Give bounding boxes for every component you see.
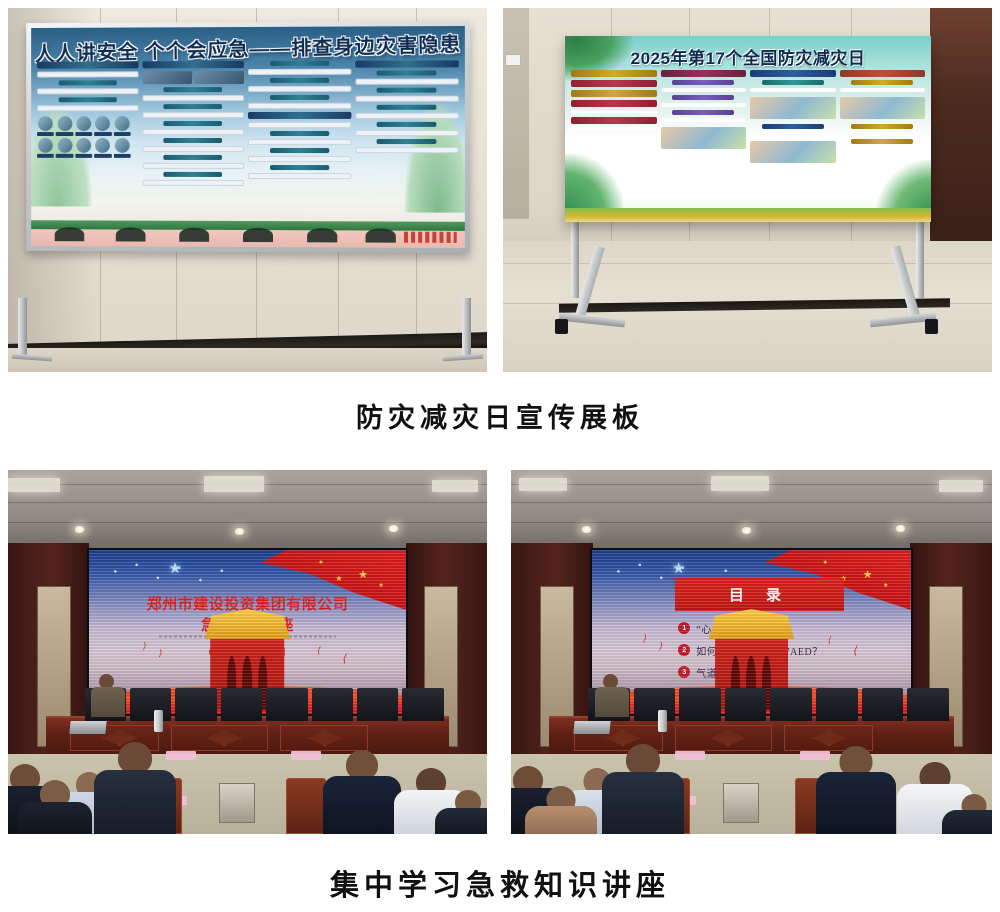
figure-photo-wall-mounted-display-board: 人人讲安全 个个会应急——排查身边灾害隐患 — [8, 8, 487, 372]
poster-section-header-bar — [750, 70, 836, 77]
poster-disaster-icon — [37, 138, 54, 158]
poster-body-text — [840, 132, 926, 136]
poster-section-header-bar — [377, 70, 437, 75]
poster-body-text — [248, 122, 351, 128]
poster-body-text — [571, 110, 657, 114]
figure-photo-free-standing-display-board: 2025年第17个全国防灾减灾日 — [503, 8, 992, 372]
poster-section-header-bar — [163, 104, 222, 109]
display-board-frame: 人人讲安全 个个会应急——排查身边灾害隐患 — [26, 21, 470, 253]
poster-illustration — [661, 127, 747, 149]
poster-column-3 — [750, 70, 836, 204]
poster-body-text — [355, 78, 459, 84]
poster-disaster-icon — [114, 116, 131, 136]
slide-toc-item-number: 2 — [678, 644, 690, 656]
board-stand-right — [462, 298, 471, 358]
ceiling — [8, 470, 487, 554]
poster-disaster-icon — [94, 116, 111, 136]
poster-body-text — [142, 180, 244, 186]
figure-caption-row-2: 集中学习急救知识讲座 — [0, 862, 1000, 904]
poster-section-header-bar — [270, 165, 330, 170]
audience-member — [525, 786, 597, 834]
poster-subsection-header-bar — [851, 80, 913, 85]
poster-disaster-icon — [75, 138, 92, 158]
poster-section-header-bar — [355, 60, 459, 67]
ceiling — [511, 470, 992, 554]
lecture-hall: ★ ★ ★ ★ ★ ⟩ ⟩ ⟨ ⟨ 目 录 1 “心肺复 — [511, 470, 992, 834]
poster-theme-subslogan — [571, 90, 657, 97]
poster-section-header-bar — [377, 105, 437, 110]
poster-body-text — [37, 105, 138, 111]
poster-subsection-header-bar — [762, 124, 824, 129]
poster-subsection-header-bar — [851, 139, 913, 144]
poster-section-header-bar — [163, 172, 222, 177]
poster-section-header-bar — [58, 80, 117, 85]
poster-body-text — [142, 129, 244, 135]
poster-illustration — [750, 141, 836, 163]
poster-body-text — [248, 139, 351, 145]
poster-illustration — [840, 97, 926, 119]
poster-body-text — [142, 163, 244, 169]
poster-disaster-icon — [94, 138, 111, 158]
poster-body-text — [355, 113, 459, 119]
audience — [8, 674, 487, 834]
poster-disaster-icon-grid — [37, 116, 138, 158]
audience-member — [602, 744, 684, 834]
poster-body-text — [750, 88, 836, 92]
poster-body-text — [248, 69, 351, 75]
poster-body-text — [661, 103, 747, 107]
audience — [511, 674, 992, 834]
poster-body-text — [248, 156, 351, 162]
poster-columns — [37, 60, 459, 219]
poster-section-header-bar — [270, 61, 330, 66]
poster-section-header-bar — [377, 139, 437, 144]
audience-member — [435, 790, 487, 834]
poster-section-header-bar — [163, 138, 222, 143]
poster-body-text — [37, 71, 138, 77]
poster-body-text — [840, 88, 926, 92]
ceiling-downlight — [895, 525, 906, 532]
figure-photo-lecture-toc-slide: ★ ★ ★ ★ ★ ⟩ ⟩ ⟨ ⟨ 目 录 1 “心肺复 — [511, 470, 992, 834]
slide-toc-title-box: 目 录 — [675, 578, 844, 611]
audience-seat — [286, 778, 326, 834]
poster-thumbnail-row — [142, 71, 244, 84]
poster-illustration — [750, 97, 836, 119]
poster-disaster-icon — [56, 116, 73, 136]
audience-member — [18, 780, 92, 834]
display-board-frame: 2025年第17个全国防灾减灾日 — [565, 36, 931, 222]
poster-body-text — [355, 147, 459, 153]
ceiling-downlight — [741, 527, 752, 534]
poster-subsection-header-bar — [672, 95, 734, 100]
poster-disaster-icon — [75, 116, 92, 136]
poster-section-header-bar — [163, 87, 222, 92]
wall-plaque — [505, 54, 521, 66]
poster-section-header-bar — [142, 61, 244, 68]
poster-section-header-bar — [270, 131, 330, 136]
document-page: 人人讲安全 个个会应急——排查身边灾害隐患 — [0, 0, 1000, 912]
poster-body-text — [142, 95, 244, 101]
poster-section-header-bar — [163, 155, 222, 160]
poster-body-text — [840, 147, 926, 151]
poster-graphic: 人人讲安全 个个会应急——排查身边灾害隐患 — [31, 26, 465, 248]
poster-section-header-bar — [270, 95, 330, 100]
poster-column-3 — [248, 61, 351, 220]
display-board-inner: 人人讲安全 个个会应急——排查身边灾害隐患 — [31, 26, 465, 248]
board-caster-left — [555, 319, 568, 334]
audience-member — [942, 794, 992, 834]
floor — [8, 348, 487, 372]
poster-footer-band — [565, 208, 931, 222]
board-stand-left — [18, 298, 27, 358]
poster-column-4 — [840, 70, 926, 204]
poster-disaster-icon — [56, 138, 73, 158]
poster-body-text — [661, 118, 747, 122]
poster-theme-slogan — [571, 80, 657, 87]
poster-theme-badge — [571, 70, 657, 77]
poster-subsection-header-bar — [672, 110, 734, 115]
slide-toc-title: 目 录 — [729, 584, 790, 605]
poster-column-4 — [355, 60, 459, 219]
poster-section-header-bar — [377, 88, 437, 93]
poster-section-header-bar — [37, 61, 138, 68]
audience-member — [816, 746, 896, 834]
poster-graphic: 2025年第17个全国防灾减灾日 — [565, 36, 931, 222]
poster-subsection-header-bar — [851, 124, 913, 129]
ceiling-downlight — [388, 525, 399, 532]
poster-body-text — [355, 96, 459, 102]
audience-member — [323, 750, 401, 834]
poster-section-header-bar — [571, 117, 657, 124]
poster-body-text — [571, 127, 657, 131]
poster-section-header-bar — [377, 122, 437, 127]
figure-photo-lecture-opening-slide: ★ ★ ★ ★ ★ ⟩ ⟩ ⟨ ⟨ 郑州市建设投资集团有限公司 急救知识讲座 2… — [8, 470, 487, 834]
poster-body-text — [142, 112, 244, 118]
poster-section-header-bar — [270, 78, 330, 83]
audience-member — [94, 742, 176, 834]
slide-toc-item-number: 1 — [678, 622, 690, 634]
poster-body-text — [750, 132, 836, 136]
poster-body-text — [142, 146, 244, 152]
poster-body-text — [248, 103, 351, 109]
ceiling-downlight — [74, 526, 85, 533]
poster-footer-decoration — [31, 220, 465, 248]
poster-column-2 — [661, 70, 747, 204]
poster-body-text — [355, 130, 459, 136]
poster-column-1 — [571, 70, 657, 204]
poster-footer-sponsor-text — [404, 232, 457, 243]
poster-section-header-bar — [270, 148, 330, 153]
desk-nameplate — [291, 751, 321, 760]
poster-body-text — [248, 173, 351, 179]
poster-disaster-icon — [37, 116, 54, 136]
poster-section-header-bar — [163, 121, 222, 126]
poster-subsection-header-bar — [672, 80, 734, 85]
wooden-door — [930, 8, 992, 248]
poster-column-2 — [142, 61, 244, 219]
poster-section-header-bar — [571, 100, 657, 107]
ceiling-downlight — [234, 528, 245, 535]
poster-section-header-bar — [248, 112, 351, 119]
poster-subsection-header-bar — [762, 80, 824, 85]
poster-thumbnail — [194, 71, 244, 84]
poster-disaster-icon — [114, 138, 131, 158]
ceiling-downlight — [581, 526, 592, 533]
lecture-hall: ★ ★ ★ ★ ★ ⟩ ⟩ ⟨ ⟨ 郑州市建设投资集团有限公司 急救知识讲座 2… — [8, 470, 487, 834]
poster-section-header-bar — [840, 70, 926, 77]
poster-columns — [571, 70, 925, 204]
poster-section-header-bar — [58, 97, 117, 102]
poster-body-text — [248, 86, 351, 92]
poster-column-1 — [37, 61, 138, 218]
poster-body-text — [37, 88, 138, 94]
poster-thumbnail — [142, 71, 192, 84]
left-wall-column — [503, 8, 529, 219]
figure-caption-row-1: 防灾减灾日宣传展板 — [0, 396, 1000, 435]
board-caster-right — [925, 319, 938, 334]
poster-main-title: 2025年第17个全国防灾减灾日 — [565, 44, 931, 69]
poster-section-header-bar — [661, 70, 747, 77]
poster-body-text — [661, 88, 747, 92]
